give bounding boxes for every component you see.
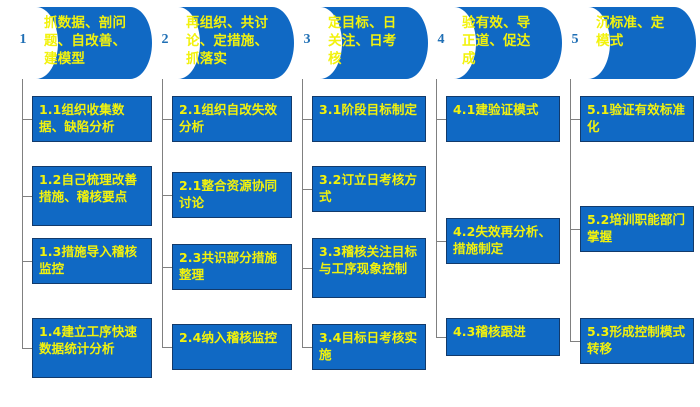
connector-branch xyxy=(22,261,32,262)
connector-branch xyxy=(570,229,580,230)
connector-trunk xyxy=(436,79,437,337)
column-header-1[interactable]: 1抓数据、剖问题、自改善、建模型 xyxy=(10,7,152,79)
connector-branch xyxy=(22,348,32,349)
connector-branch xyxy=(302,347,312,348)
task-label: 1.1组织收集数据、缺陷分析 xyxy=(39,101,146,135)
task-box[interactable]: 3.1阶段目标制定 xyxy=(312,96,426,142)
task-label: 1.3措施导入稽核监控 xyxy=(39,243,146,277)
task-box[interactable]: 3.3稽核关注目标与工序现象控制 xyxy=(312,238,426,298)
task-label: 2.1组织自改失效分析 xyxy=(179,101,286,135)
task-box[interactable]: 4.3稽核跟进 xyxy=(446,318,560,356)
task-box[interactable]: 1.2自己梳理改善措施、稽核要点 xyxy=(32,166,152,226)
connector-branch xyxy=(302,268,312,269)
task-box[interactable]: 5.1验证有效标准化 xyxy=(580,96,694,142)
task-label: 3.1阶段目标制定 xyxy=(319,101,417,118)
task-label: 5.1验证有效标准化 xyxy=(587,101,688,135)
task-label: 3.4目标日考核实施 xyxy=(319,329,420,363)
task-box[interactable]: 3.4目标日考核实施 xyxy=(312,324,426,370)
column-header-5[interactable]: 5沉标准、定模式 xyxy=(562,7,696,79)
column-header-4[interactable]: 4验有效、导正道、促达成 xyxy=(428,7,562,79)
task-box[interactable]: 2.3共识部分措施整理 xyxy=(172,244,292,290)
task-label: 5.3形成控制模式转移 xyxy=(587,323,688,357)
task-box[interactable]: 1.1组织收集数据、缺陷分析 xyxy=(32,96,152,142)
connector-branch xyxy=(22,119,32,120)
connector-branch xyxy=(302,189,312,190)
task-box[interactable]: 3.2订立日考核方式 xyxy=(312,166,426,212)
task-label: 1.2自己梳理改善措施、稽核要点 xyxy=(39,171,146,205)
process-flow-diagram: 1抓数据、剖问题、自改善、建模型1.1组织收集数据、缺陷分析1.2自己梳理改善措… xyxy=(0,0,700,407)
task-box[interactable]: 4.2失效再分析、措施制定 xyxy=(446,218,560,264)
task-box[interactable]: 2.4纳入稽核监控 xyxy=(172,324,292,370)
column-header-label: 沉标准、定模式 xyxy=(596,15,678,51)
connector-branch xyxy=(162,119,172,120)
connector-branch xyxy=(436,337,446,338)
task-box[interactable]: 2.1整合资源协同讨论 xyxy=(172,172,292,218)
column-header-2[interactable]: 2再组织、共讨论、定措施、抓落实 xyxy=(152,7,294,79)
connector-branch xyxy=(570,119,580,120)
task-label: 1.4建立工序快速数据统计分析 xyxy=(39,323,146,357)
task-box[interactable]: 1.3措施导入稽核监控 xyxy=(32,238,152,284)
column-number-3: 3 xyxy=(296,33,318,47)
column-number-4: 4 xyxy=(430,33,452,47)
connector-branch xyxy=(436,241,446,242)
task-label: 2.3共识部分措施整理 xyxy=(179,249,286,283)
column-number-1: 1 xyxy=(12,33,34,47)
task-label: 2.4纳入稽核监控 xyxy=(179,329,277,346)
column-header-label: 定目标、日关注、日考核 xyxy=(328,15,410,69)
task-box[interactable]: 5.3形成控制模式转移 xyxy=(580,318,694,364)
connector-branch xyxy=(570,341,580,342)
connector-branch xyxy=(162,195,172,196)
task-label: 3.2订立日考核方式 xyxy=(319,171,420,205)
column-number-5: 5 xyxy=(564,33,586,47)
task-label: 2.1整合资源协同讨论 xyxy=(179,177,286,211)
task-label: 4.3稽核跟进 xyxy=(453,323,526,340)
task-label: 4.1建验证模式 xyxy=(453,101,538,118)
task-box[interactable]: 4.1建验证模式 xyxy=(446,96,560,142)
column-header-label: 再组织、共讨论、定措施、抓落实 xyxy=(186,15,276,69)
column-header-label: 抓数据、剖问题、自改善、建模型 xyxy=(44,15,134,69)
task-box[interactable]: 5.2培训职能部门掌握 xyxy=(580,206,694,252)
column-header-label: 验有效、导正道、促达成 xyxy=(462,15,544,69)
connector-branch xyxy=(436,119,446,120)
task-label: 5.2培训职能部门掌握 xyxy=(587,211,688,245)
task-box[interactable]: 2.1组织自改失效分析 xyxy=(172,96,292,142)
connector-branch xyxy=(162,347,172,348)
connector-branch xyxy=(22,196,32,197)
task-label: 3.3稽核关注目标与工序现象控制 xyxy=(319,243,420,277)
task-box[interactable]: 1.4建立工序快速数据统计分析 xyxy=(32,318,152,378)
column-number-2: 2 xyxy=(154,33,176,47)
column-header-3[interactable]: 3定目标、日关注、日考核 xyxy=(294,7,428,79)
connector-branch xyxy=(302,119,312,120)
task-label: 4.2失效再分析、措施制定 xyxy=(453,223,554,257)
connector-branch xyxy=(162,267,172,268)
